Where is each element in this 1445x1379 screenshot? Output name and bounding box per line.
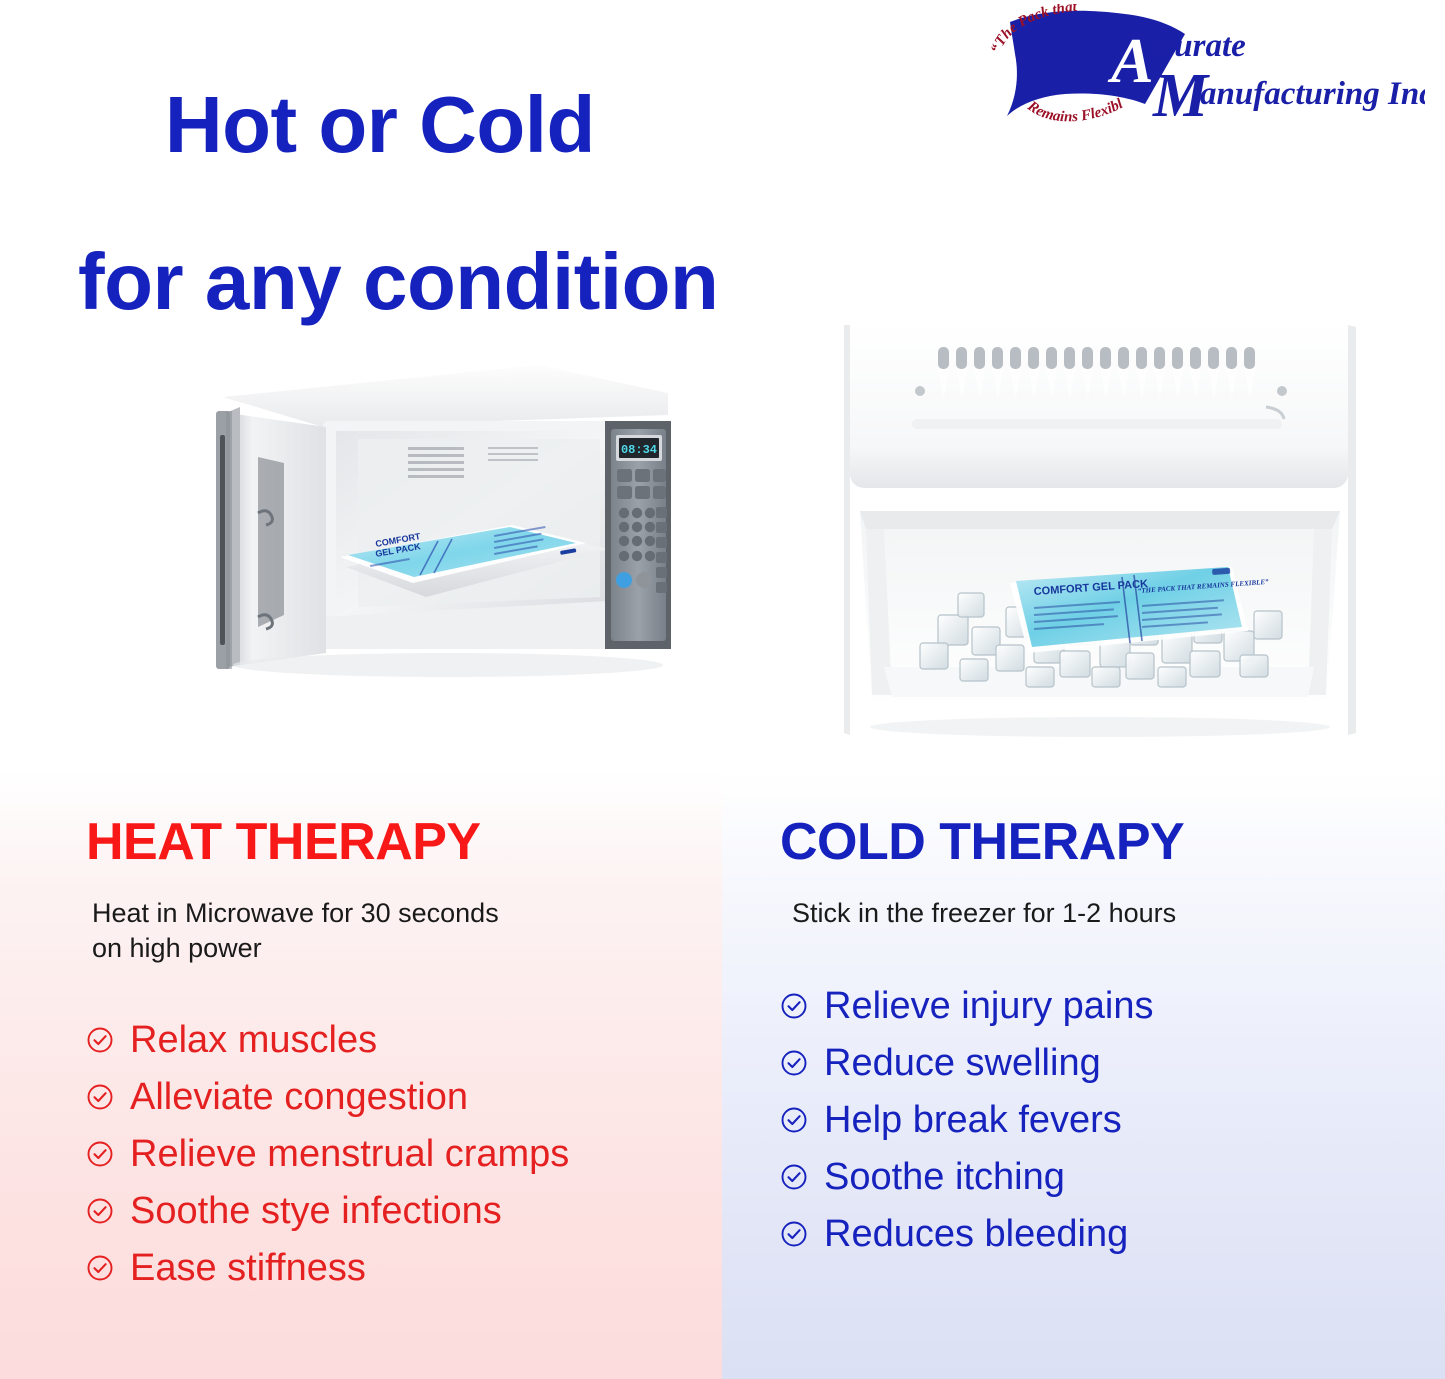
page-title-line-1: Hot or Cold [165,80,595,169]
check-circle-icon [780,1163,808,1191]
microwave-photo: COMFORT GEL PACK [108,335,688,760]
brand-logo: A “The Pack that Remains Flexible” ccura… [985,4,1425,134]
list-item: Reduces bleeding [780,1215,1445,1253]
stop-button[interactable] [636,572,652,588]
list-item: Relax muscles [86,1021,722,1059]
microwave-door[interactable] [216,407,326,669]
freezer-left-edge [844,325,850,735]
list-item-label: Soothe stye infections [130,1192,502,1230]
list-item: Relieve injury pains [780,987,1445,1025]
logo-brand-line-1: ccurate [1145,28,1246,64]
heat-therapy-benefits-list: Relax muscles Alleviate congestion Relie… [86,1021,722,1287]
list-item-label: Alleviate congestion [130,1078,468,1116]
door-window [258,457,284,627]
list-item-label: Relieve injury pains [824,987,1154,1025]
check-circle-icon [86,1140,114,1168]
start-button[interactable] [616,572,632,588]
check-circle-icon [780,1049,808,1077]
check-circle-icon [86,1254,114,1282]
list-item-label: Relax muscles [130,1021,377,1059]
door-seal [220,435,225,645]
list-item-label: Relieve menstrual cramps [130,1135,569,1173]
freezer-shadow [870,717,1330,737]
microwave-shadow [233,653,663,677]
list-item-label: Reduces bleeding [824,1215,1128,1253]
cold-therapy-benefits-list: Relieve injury pains Reduce swelling Hel… [780,987,1445,1253]
check-circle-icon [86,1197,114,1225]
freezer-door-groove [912,419,1282,429]
freezer-screw-right [1277,386,1287,396]
freezer-door[interactable] [850,323,1348,488]
check-circle-icon [86,1026,114,1054]
list-item: Relieve menstrual cramps [86,1135,722,1173]
list-item: Soothe stye infections [86,1192,722,1230]
heat-therapy-panel: HEAT THERAPY Heat in Microwave for 30 se… [0,770,722,1379]
list-item-label: Reduce swelling [824,1044,1101,1082]
therapy-panels: HEAT THERAPY Heat in Microwave for 30 se… [0,770,1445,1379]
list-item: Soothe itching [780,1158,1445,1196]
list-item-label: Help break fevers [824,1101,1122,1139]
product-photos: COMFORT GEL PACK [0,240,1445,770]
check-circle-icon [86,1083,114,1111]
list-item-label: Ease stiffness [130,1249,366,1287]
check-circle-icon [780,1106,808,1134]
freezer-photo: COMFORT GEL PACK “THE PACK THAT REMAINS … [820,315,1380,755]
cold-therapy-subtitle: Stick in the freezer for 1-2 hours [780,896,1352,931]
list-item-label: Soothe itching [824,1158,1065,1196]
logo-brand-line-2: anufacturing Inc. [1200,76,1425,112]
microwave-display-time: 08:34 [621,443,657,457]
cold-therapy-title: COLD THERAPY [780,816,1445,868]
list-item: Help break fevers [780,1101,1445,1139]
heat-therapy-subtitle: Heat in Microwave for 30 seconds on high… [86,896,652,965]
freezer-screw-left [915,386,925,396]
list-item: Reduce swelling [780,1044,1445,1082]
check-circle-icon [780,992,808,1020]
infographic-page: Hot or Cold for any condition A “The Pac… [0,0,1445,1379]
microwave-top [223,365,668,427]
cold-therapy-panel: COLD THERAPY Stick in the freezer for 1-… [722,770,1445,1379]
list-item: Alleviate congestion [86,1078,722,1116]
list-item: Ease stiffness [86,1249,722,1287]
freezer-right-edge [1348,325,1356,735]
check-circle-icon [780,1220,808,1248]
heat-therapy-title: HEAT THERAPY [86,816,722,868]
